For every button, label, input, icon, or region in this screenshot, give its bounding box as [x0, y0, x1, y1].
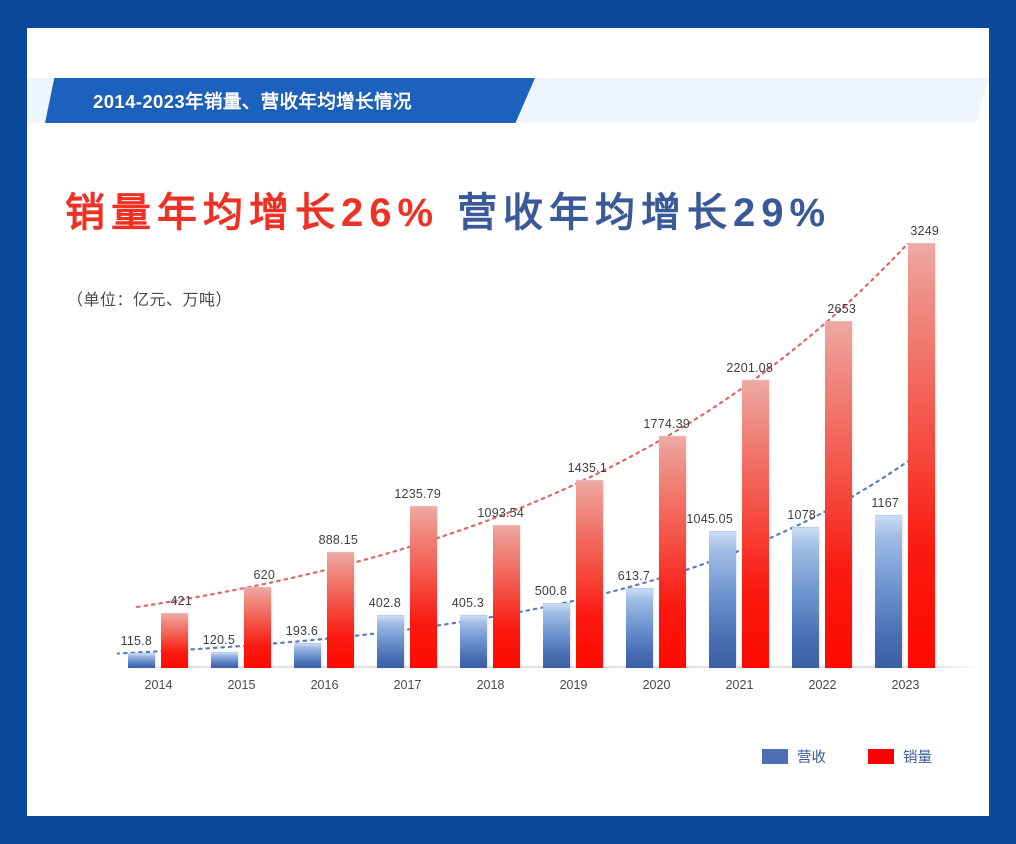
data-label-revenue: 1167: [871, 496, 899, 510]
legend-swatch-revenue: [762, 749, 788, 764]
bar-group: 500.81435.12019: [532, 243, 615, 668]
data-label-revenue: 500.8: [535, 584, 567, 598]
x-axis-tick: 2017: [366, 678, 449, 692]
x-axis-tick: 2014: [117, 678, 200, 692]
data-label-sales: 421: [171, 594, 192, 608]
headline: 销量年均增长26% 营收年均增长29%: [65, 180, 965, 238]
plot-area: 115.84212014120.56202015193.6888.1520164…: [117, 243, 947, 668]
bar-revenue[interactable]: [294, 643, 321, 668]
data-label-sales: 2201.08: [726, 361, 773, 375]
bar-sales[interactable]: [742, 380, 769, 668]
bar-revenue[interactable]: [626, 588, 653, 668]
data-label-sales: 888.15: [319, 533, 358, 547]
legend-label-revenue: 营收: [797, 746, 826, 767]
bar-revenue[interactable]: [709, 531, 736, 668]
data-label-sales: 1774.39: [643, 417, 690, 431]
chart-legend: 营收 销量: [762, 746, 932, 767]
data-label-sales: 3249: [910, 224, 939, 238]
data-label-revenue: 120.5: [203, 633, 235, 647]
legend-label-sales: 销量: [903, 746, 932, 767]
bar-group: 1045.052201.082021: [698, 243, 781, 668]
bar-sales[interactable]: [161, 613, 188, 668]
x-axis-tick: 2023: [864, 678, 947, 692]
bar-sales[interactable]: [908, 243, 935, 668]
chart: 115.84212014120.56202015193.6888.1520164…: [67, 243, 957, 698]
data-label-sales: 1093.54: [477, 506, 524, 520]
page-title: 2014-2023年销量、营收年均增长情况: [93, 88, 412, 114]
x-axis-tick: 2019: [532, 678, 615, 692]
bar-revenue[interactable]: [792, 527, 819, 668]
bar-revenue[interactable]: [460, 615, 487, 668]
bar-sales[interactable]: [244, 587, 271, 668]
bar-sales[interactable]: [410, 506, 437, 668]
bar-group: 120.56202015: [200, 243, 283, 668]
bar-group: 107826532022: [781, 243, 864, 668]
page-border: 2014-2023年销量、营收年均增长情况 销量年均增长26% 营收年均增长29…: [0, 0, 1016, 844]
bar-group: 405.31093.542018: [449, 243, 532, 668]
bar-sales[interactable]: [825, 321, 852, 668]
bar-revenue[interactable]: [543, 603, 570, 669]
bar-group: 115.84212014: [117, 243, 200, 668]
title-banner: 2014-2023年销量、营收年均增长情况: [45, 78, 535, 123]
legend-item-sales[interactable]: 销量: [868, 746, 932, 767]
bar-sales[interactable]: [327, 552, 354, 668]
data-label-revenue: 1045.05: [686, 512, 733, 526]
data-label-revenue: 115.8: [121, 634, 152, 648]
x-axis-tick: 2016: [283, 678, 366, 692]
x-axis-tick: 2022: [781, 678, 864, 692]
legend-item-revenue[interactable]: 营收: [762, 746, 826, 767]
legend-swatch-sales: [868, 749, 894, 764]
x-axis-tick: 2020: [615, 678, 698, 692]
headline-revenue-growth: 营收年均增长29%: [457, 180, 831, 238]
bar-group: 613.71774.392020: [615, 243, 698, 668]
data-label-revenue: 1078: [787, 508, 816, 522]
data-label-revenue: 405.3: [452, 596, 484, 610]
bar-revenue[interactable]: [128, 653, 155, 668]
data-label-revenue: 402.8: [369, 596, 401, 610]
bar-revenue[interactable]: [211, 652, 238, 668]
data-label-sales: 1235.79: [394, 487, 441, 501]
data-label-sales: 620: [254, 568, 275, 582]
bar-sales[interactable]: [659, 436, 686, 668]
headline-sales-growth: 销量年均增长26%: [65, 180, 439, 238]
data-label-revenue: 613.7: [618, 569, 650, 583]
slide-card: 2014-2023年销量、营收年均增长情况 销量年均增长26% 营收年均增长29…: [27, 28, 989, 816]
x-axis-tick: 2018: [449, 678, 532, 692]
bar-revenue[interactable]: [875, 515, 902, 668]
data-label-revenue: 193.6: [286, 624, 318, 638]
x-axis-tick: 2015: [200, 678, 283, 692]
bar-sales[interactable]: [493, 525, 520, 668]
bar-group: 116732492023: [864, 243, 947, 668]
bar-sales[interactable]: [576, 480, 603, 668]
bar-group: 193.6888.152016: [283, 243, 366, 668]
bar-revenue[interactable]: [377, 615, 404, 668]
x-axis-tick: 2021: [698, 678, 781, 692]
bar-group: 402.81235.792017: [366, 243, 449, 668]
data-label-sales: 1435.1: [568, 461, 607, 475]
data-label-sales: 2653: [827, 302, 856, 316]
